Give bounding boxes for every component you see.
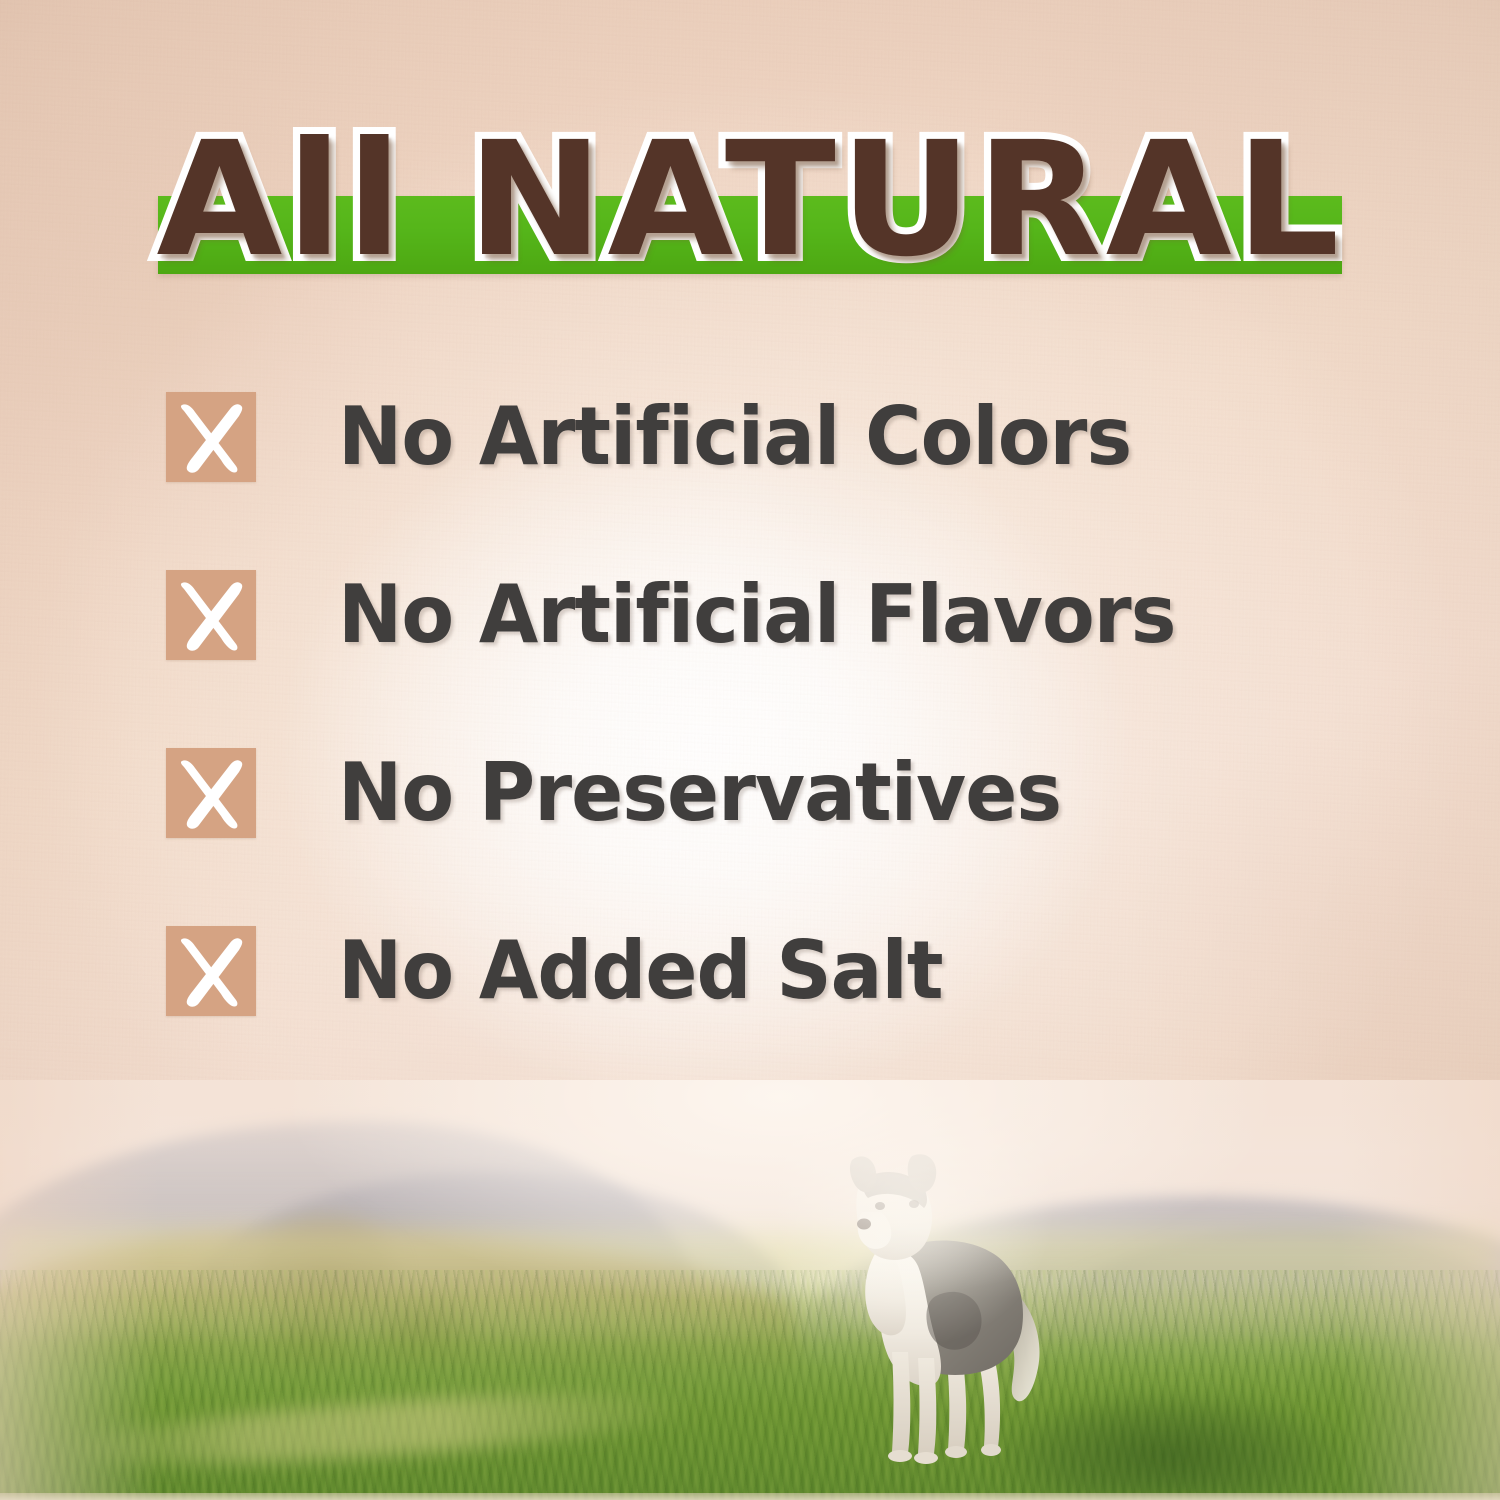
list-item: No Preservatives (166, 748, 1426, 838)
list-item-label: No Artificial Flavors (338, 572, 1175, 658)
list-item-label: No Preservatives (338, 750, 1061, 836)
all-natural-poster: All NATURAL No Artificial Colors No Arti… (0, 0, 1500, 1500)
page-title: All NATURAL (0, 116, 1500, 284)
list-item-label: No Artificial Colors (338, 394, 1131, 480)
feature-list: No Artificial Colors No Artificial Flavo… (166, 392, 1426, 1104)
x-mark-icon (166, 392, 256, 482)
x-mark-icon (166, 570, 256, 660)
list-item-label: No Added Salt (338, 928, 943, 1014)
bottom-edge-strip (0, 1493, 1500, 1500)
x-mark-icon (166, 926, 256, 1016)
list-item: No Artificial Flavors (166, 570, 1426, 660)
landscape-photo (0, 1080, 1500, 1500)
list-item: No Added Salt (166, 926, 1426, 1016)
list-item: No Artificial Colors (166, 392, 1426, 482)
border-collie-dog (818, 1146, 1078, 1476)
x-mark-icon (166, 748, 256, 838)
